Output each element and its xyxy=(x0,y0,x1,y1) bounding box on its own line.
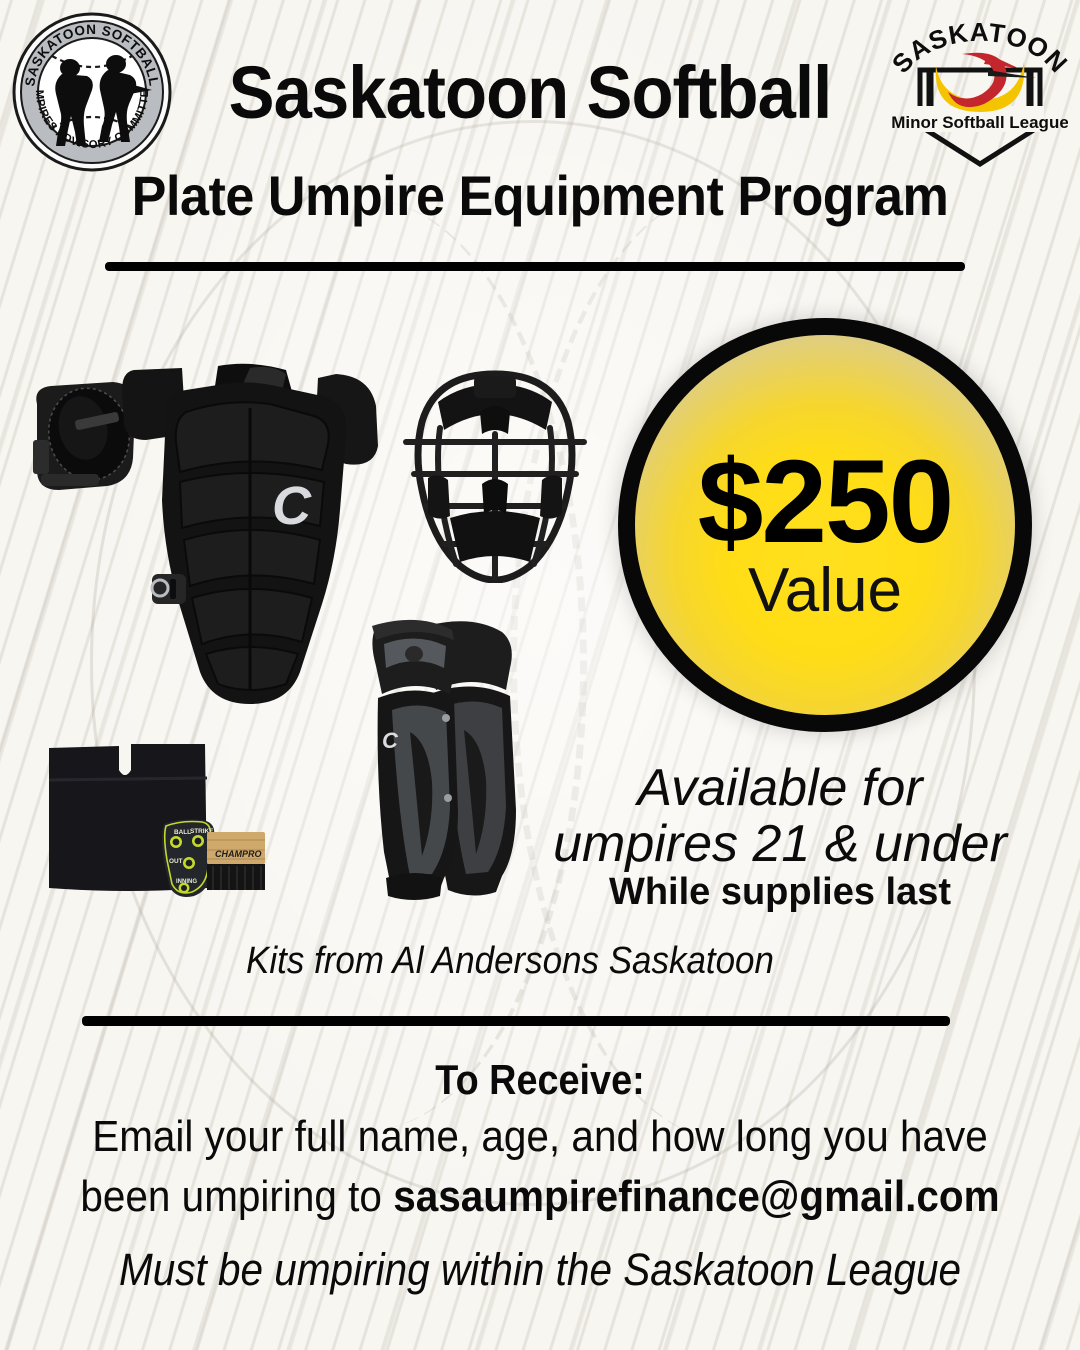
svg-text:C: C xyxy=(382,728,399,753)
chest-protector-brand-mark: C xyxy=(272,476,312,536)
availability-line-2: umpires 21 & under xyxy=(500,816,1060,872)
availability-line-1: Available for xyxy=(500,760,1060,816)
plate-brush-brand: CHAMPRO xyxy=(215,849,262,859)
instructions-line-2-prefix: been umpiring to xyxy=(80,1172,393,1221)
availability-text: Available for umpires 21 & under xyxy=(500,760,1060,872)
value-badge-label: Value xyxy=(748,560,902,622)
instructions-line-1: Email your full name, age, and how long … xyxy=(62,1112,1019,1161)
poster-header: SASKATOON SOFTBALL UMPIRES ADVISORY COMM… xyxy=(0,0,1080,250)
requirement-text: Must be umpiring within the Saskatoon Le… xyxy=(63,1244,1017,1296)
indicator-label-out: OUT xyxy=(169,858,183,865)
logo-right-bottom-text: Minor Softball League xyxy=(892,113,1068,132)
contact-email[interactable]: sasaumpirefinance@gmail.com xyxy=(393,1172,999,1221)
value-badge: $250 Value xyxy=(618,318,1032,732)
chest-protector-image: C xyxy=(100,360,400,710)
page-subtitle: Plate Umpire Equipment Program xyxy=(38,168,1042,224)
indicator-label-ball: BALL xyxy=(174,829,191,836)
saskatoon-minor-softball-league-logo: SASKATOON Minor Softball League xyxy=(892,8,1068,174)
saskatoon-softball-umpires-advisory-committee-logo: SASKATOON SOFTBALL UMPIRES ADVISORY COMM… xyxy=(12,12,172,172)
plate-brush-image: CHAMPRO xyxy=(205,830,267,892)
instructions-line-2: been umpiring to sasaumpirefinance@gmail… xyxy=(62,1172,1019,1221)
divider-bottom xyxy=(82,1016,950,1026)
page-title: Saskatoon Softball xyxy=(205,56,856,130)
poster-canvas: SASKATOON SOFTBALL UMPIRES ADVISORY COMM… xyxy=(0,0,1080,1350)
kits-source-text: Kits from Al Andersons Saskatoon xyxy=(96,940,924,983)
umpire-mask-image xyxy=(400,368,590,583)
divider-top xyxy=(105,262,965,271)
value-badge-amount: $250 xyxy=(698,446,953,558)
supplies-note: While supplies last xyxy=(500,872,1060,914)
to-receive-heading: To Receive: xyxy=(54,1056,1026,1104)
